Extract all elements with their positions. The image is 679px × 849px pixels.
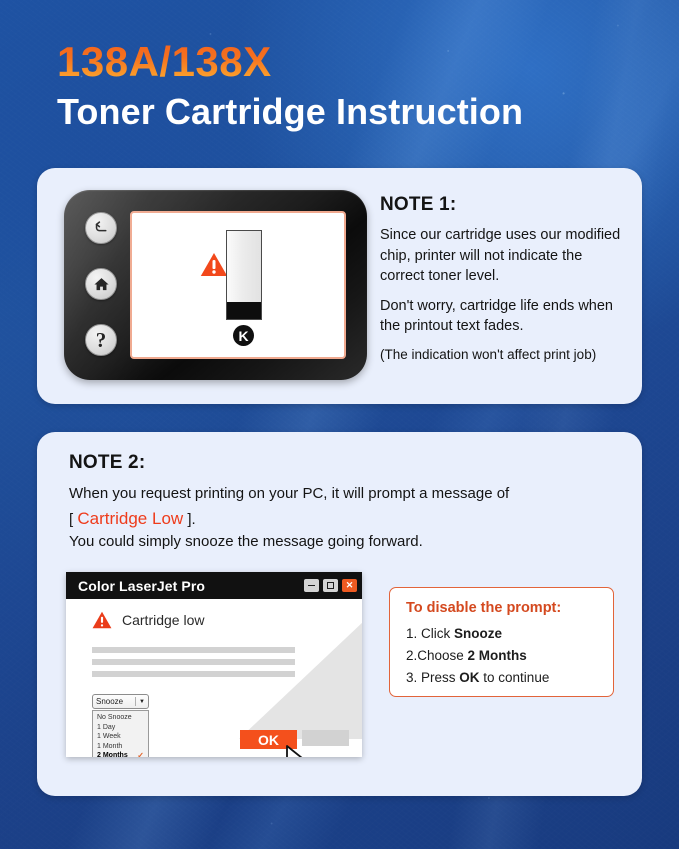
snooze-option[interactable]: 1 Week bbox=[93, 732, 148, 742]
window-controls: ✕ bbox=[304, 579, 357, 592]
snooze-option-selected[interactable]: 2 Months ✓ bbox=[93, 751, 148, 757]
check-icon: ✓ bbox=[137, 751, 144, 757]
snooze-option-label: 1 Month bbox=[97, 742, 122, 752]
step-prefix: 1. Click bbox=[406, 626, 454, 641]
dialog-title-bar[interactable]: Color LaserJet Pro ✕ bbox=[66, 572, 362, 599]
snooze-dropdown[interactable]: Snooze ▼ bbox=[92, 694, 149, 709]
note2-line-2: You could simply snooze the message goin… bbox=[69, 531, 614, 554]
note1-card: ? K NOTE 1: Since our cartridge bbox=[37, 168, 642, 404]
snooze-option-label: 1 Week bbox=[97, 732, 121, 742]
bracket-open: [ bbox=[69, 511, 73, 528]
dialog-body: Cartridge low Snooze ▼ No Snooze bbox=[66, 599, 362, 757]
bracket-close: ]. bbox=[187, 511, 195, 528]
step-prefix: 3. Press bbox=[406, 670, 459, 685]
step-prefix: 2.Choose bbox=[406, 648, 468, 663]
chevron-down-icon: ▼ bbox=[139, 699, 145, 705]
poster-page: 138A/138X Toner Cartridge Instruction ? bbox=[0, 0, 679, 849]
maximize-icon[interactable] bbox=[323, 579, 338, 592]
snooze-dropdown-label: Snooze bbox=[96, 697, 135, 706]
note1-heading: NOTE 1: bbox=[380, 194, 630, 216]
note1-text-block: NOTE 1: Since our cartridge uses our mod… bbox=[380, 194, 630, 365]
note1-footnote: (The indication won't affect print job) bbox=[380, 346, 630, 365]
step-keyword: Snooze bbox=[454, 626, 502, 641]
note2-card: NOTE 2: When you request printing on you… bbox=[37, 432, 642, 796]
placeholder-bar bbox=[92, 671, 295, 677]
page-header: 138A/138X Toner Cartridge Instruction bbox=[57, 40, 657, 131]
help-icon[interactable]: ? bbox=[85, 324, 117, 356]
printer-screen: K bbox=[130, 211, 346, 359]
disable-prompt-callout: To disable the prompt: 1. Click Snooze 2… bbox=[389, 587, 614, 697]
page-model-title: 138A/138X bbox=[57, 40, 657, 85]
close-icon[interactable]: ✕ bbox=[342, 579, 357, 592]
help-glyph: ? bbox=[96, 328, 107, 353]
page-title: Toner Cartridge Instruction bbox=[57, 92, 657, 132]
note2-bracket-line: [ Cartridge Low ]. bbox=[69, 506, 614, 532]
callout-step: 1. Click Snooze bbox=[406, 624, 613, 643]
maximize-glyph bbox=[327, 582, 334, 589]
minimize-glyph bbox=[308, 585, 315, 587]
note2-heading: NOTE 2: bbox=[69, 452, 614, 474]
snooze-option[interactable]: No Snooze bbox=[93, 713, 148, 723]
cartridge-color-badge: K bbox=[233, 325, 254, 346]
callout-heading: To disable the prompt: bbox=[406, 600, 613, 616]
note2-line-1: When you request printing on your PC, it… bbox=[69, 483, 614, 506]
snooze-option[interactable]: 1 Day bbox=[93, 723, 148, 733]
snooze-option-label: No Snooze bbox=[97, 713, 132, 723]
toner-level-gauge bbox=[226, 230, 262, 320]
warning-triangle-icon bbox=[200, 252, 228, 277]
dialog-message-text: Cartridge low bbox=[122, 612, 204, 628]
secondary-button-placeholder[interactable] bbox=[302, 730, 349, 746]
dialog-message-row: Cartridge low bbox=[92, 611, 204, 629]
home-icon[interactable] bbox=[85, 268, 117, 300]
note1-paragraph-2: Don't worry, cartridge life ends when th… bbox=[380, 296, 630, 337]
snooze-option[interactable]: 1 Month bbox=[93, 742, 148, 752]
step-keyword: OK bbox=[459, 670, 479, 685]
dropdown-divider bbox=[135, 697, 136, 706]
snooze-option-label: 2 Months bbox=[97, 751, 128, 757]
toner-level-fill bbox=[227, 302, 261, 319]
toner-gauge-group: K bbox=[198, 226, 278, 344]
snooze-option-label: 1 Day bbox=[97, 723, 115, 733]
printer-dialog-window: Color LaserJet Pro ✕ bbox=[66, 572, 362, 757]
step-suffix: to continue bbox=[480, 670, 550, 685]
snooze-option-list[interactable]: No Snooze 1 Day 1 Week 1 Month 2 Months … bbox=[92, 710, 149, 757]
minimize-icon[interactable] bbox=[304, 579, 319, 592]
callout-step: 2.Choose 2 Months bbox=[406, 646, 613, 665]
placeholder-bar bbox=[92, 647, 295, 653]
note2-text-block: NOTE 2: When you request printing on you… bbox=[69, 452, 614, 554]
callout-step: 3. Press OK to continue bbox=[406, 668, 613, 687]
printer-control-panel: ? K bbox=[64, 190, 367, 380]
step-keyword: 2 Months bbox=[468, 648, 527, 663]
warning-triangle-icon bbox=[92, 611, 112, 629]
cartridge-low-highlight: Cartridge Low bbox=[77, 509, 183, 528]
back-icon[interactable] bbox=[85, 212, 117, 244]
note1-paragraph-1: Since our cartridge uses our modified ch… bbox=[380, 225, 630, 287]
placeholder-bar bbox=[92, 659, 295, 665]
dialog-title-text: Color LaserJet Pro bbox=[78, 578, 304, 594]
mouse-cursor-icon bbox=[284, 744, 308, 757]
dialog-placeholder-text bbox=[92, 647, 295, 683]
